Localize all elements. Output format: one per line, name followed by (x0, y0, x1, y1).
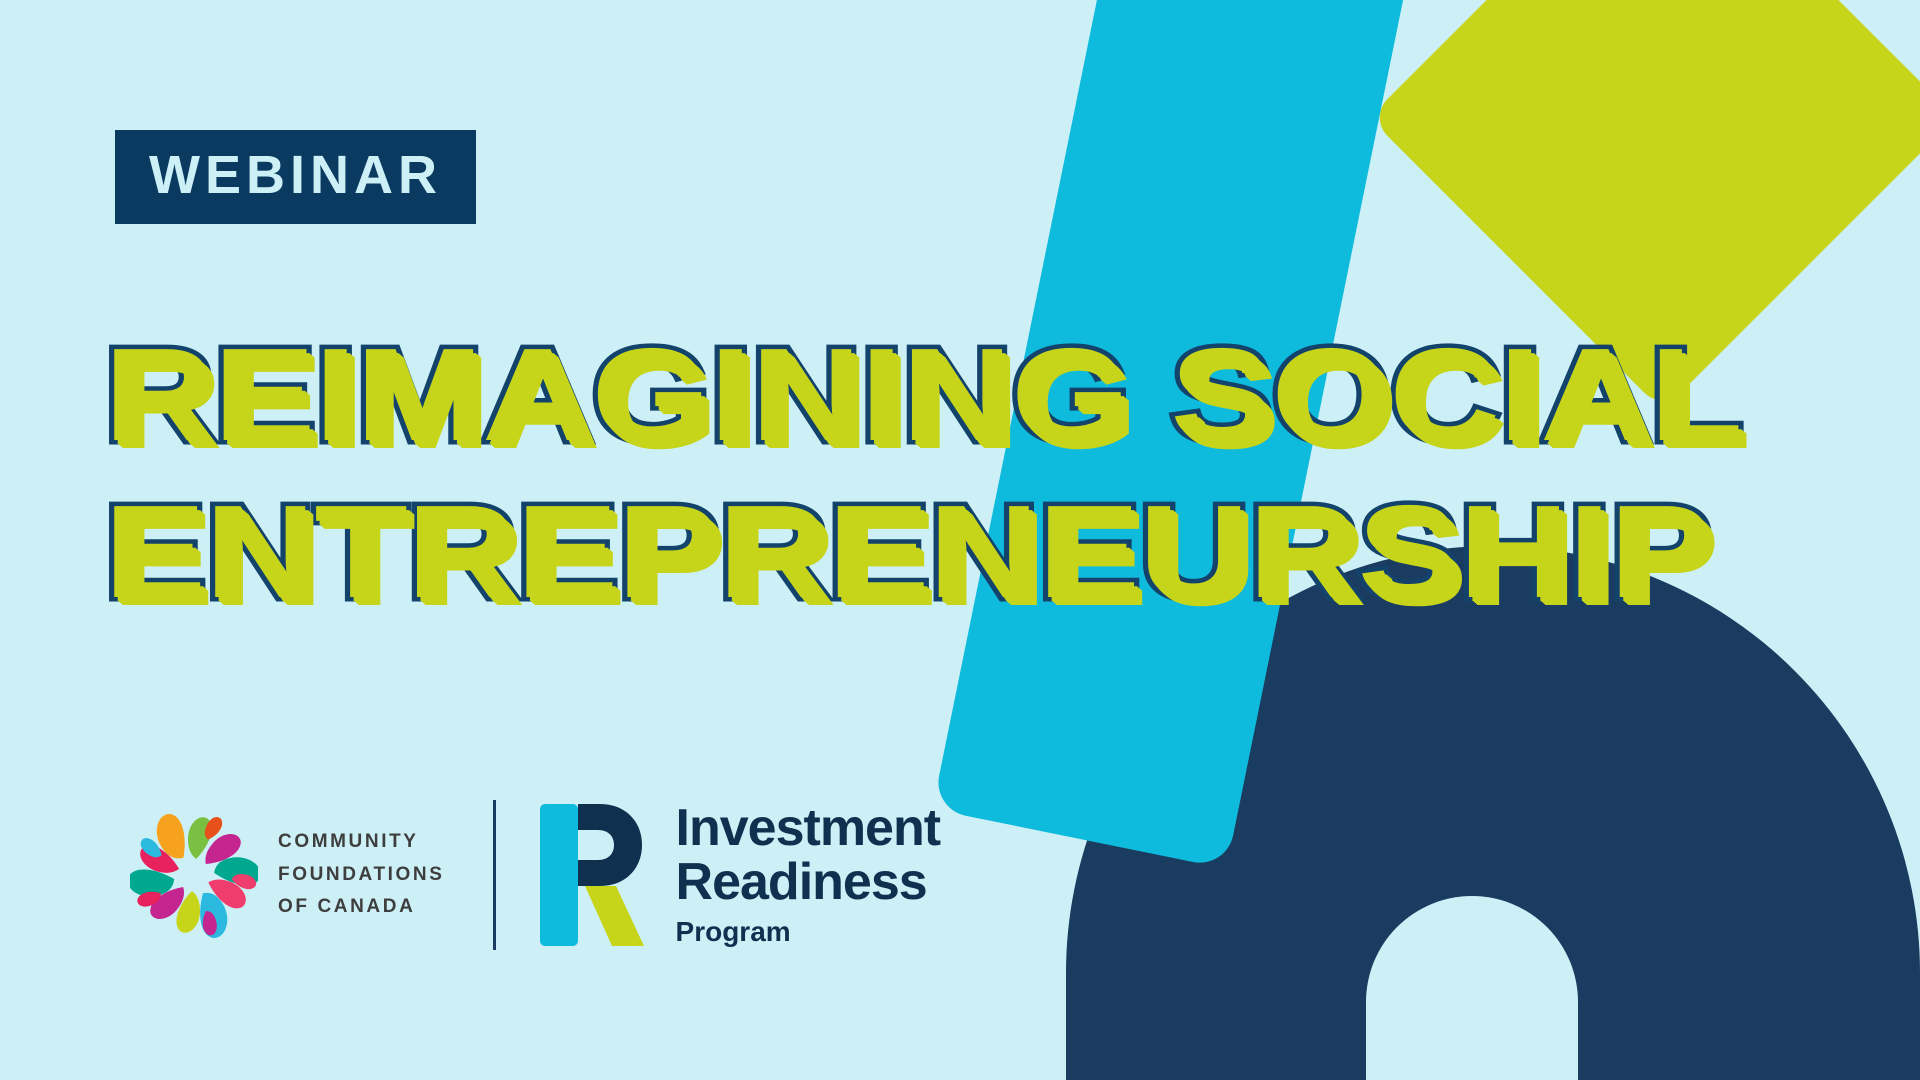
irp-line-2: Readiness (676, 856, 941, 909)
cfc-pinwheel-icon (130, 805, 258, 945)
webinar-badge-label: WEBINAR (149, 148, 442, 202)
irp-r-monogram-icon (538, 800, 650, 950)
webinar-promo-graphic: WEBINAR REIMAGINING SOCIAL ENTREPRENEURS… (0, 0, 1920, 1080)
logo-row: COMMUNITY FOUNDATIONS OF CANADA Investme… (130, 800, 940, 950)
webinar-badge: WEBINAR (115, 130, 476, 224)
irp-line-1: Investment (676, 802, 941, 855)
cfc-line-2: FOUNDATIONS (278, 859, 445, 892)
community-foundations-logo: COMMUNITY FOUNDATIONS OF CANADA (130, 805, 445, 945)
irp-wordmark: Investment Readiness Program (676, 802, 941, 947)
investment-readiness-logo: Investment Readiness Program (538, 800, 941, 950)
logo-divider (493, 800, 496, 950)
irp-line-3: Program (676, 916, 941, 948)
headline-line-1: REIMAGINING SOCIAL (104, 330, 1647, 461)
headline-line-2: ENTREPRENEURSHIP (104, 487, 1647, 618)
cfc-wordmark: COMMUNITY FOUNDATIONS OF CANADA (278, 826, 445, 924)
cfc-line-3: OF CANADA (278, 891, 445, 924)
cfc-line-1: COMMUNITY (278, 826, 445, 859)
page-title: REIMAGINING SOCIAL ENTREPRENEURSHIP (104, 330, 1434, 617)
